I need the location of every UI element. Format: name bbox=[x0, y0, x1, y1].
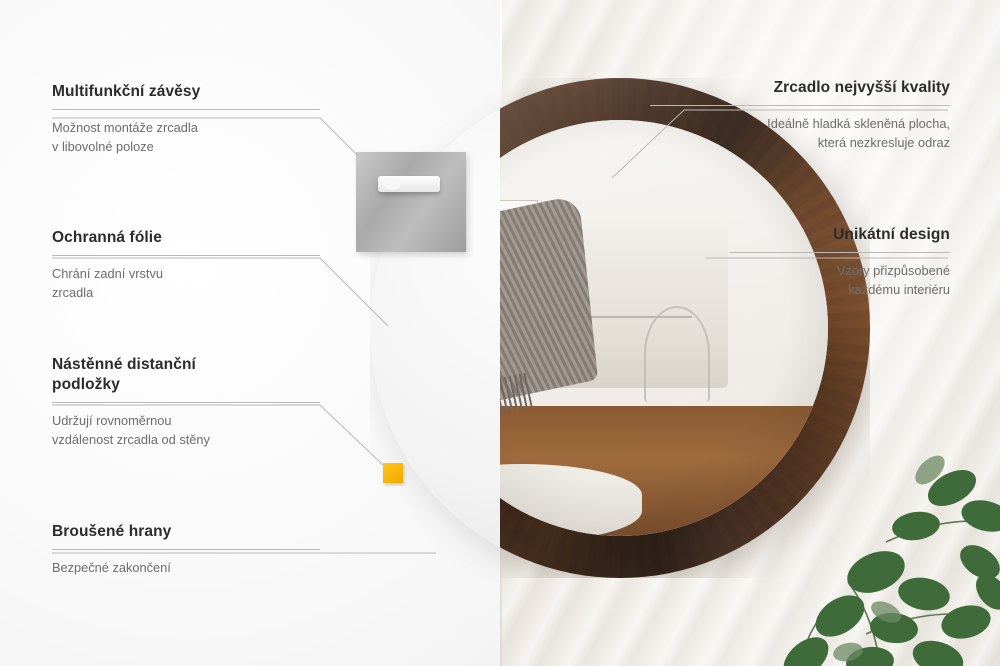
callout-title: Multifunkční závěsy bbox=[52, 82, 320, 102]
hanger-plate bbox=[356, 152, 466, 252]
desc-line-1: Vzory přizpůsobené bbox=[837, 263, 950, 278]
callout-rule bbox=[730, 252, 950, 253]
callout-ochranna-folie: Ochranná fólie Chrání zadní vrstvu zrcad… bbox=[52, 228, 320, 302]
title-line-1: Nástěnné distanční bbox=[52, 356, 196, 373]
callout-description: Vzory přizpůsobené každému interiéru bbox=[730, 262, 950, 299]
callout-description: Ideálně hladká skleněná plocha, která ne… bbox=[650, 115, 950, 152]
desc-line-2: zrcadla bbox=[52, 285, 93, 300]
title-line-2: podložky bbox=[52, 376, 120, 393]
desc-line-2: vzdálenost zrcadla od stěny bbox=[52, 432, 210, 447]
callout-title: Unikátní design bbox=[730, 225, 950, 245]
desc-line-2: každému interiéru bbox=[848, 282, 950, 297]
desc-line-2: která nezkresluje odraz bbox=[818, 135, 950, 150]
callout-multifunkcni-zavesy: Multifunkční závěsy Možnost montáže zrca… bbox=[52, 82, 320, 156]
callout-title: Broušené hrany bbox=[52, 522, 320, 542]
hanger-keyhole-slot bbox=[378, 176, 440, 192]
callout-rule bbox=[52, 402, 320, 403]
callout-rule bbox=[52, 255, 320, 256]
callout-description: Udržují rovnoměrnou vzdálenost zrcadla o… bbox=[52, 412, 320, 449]
callout-description: Chrání zadní vrstvu zrcadla bbox=[52, 265, 320, 302]
callout-title: Ochranná fólie bbox=[52, 228, 320, 248]
foliage-decoration bbox=[680, 366, 1000, 666]
callout-description: Bezpečné zakončení bbox=[52, 559, 320, 578]
spacer-pad bbox=[383, 463, 403, 483]
callout-title: Zrcadlo nejvyšší kvality bbox=[650, 78, 950, 98]
callout-rule bbox=[650, 105, 950, 106]
desc-line-1: Ideálně hladká skleněná plocha, bbox=[767, 116, 950, 131]
callout-unikatni-design: Unikátní design Vzory přizpůsobené každé… bbox=[730, 225, 950, 299]
callout-zrcadlo-nejvyssi-kvality: Zrcadlo nejvyšší kvality Ideálně hladká … bbox=[650, 78, 950, 152]
callout-description: Možnost montáže zrcadla v libovolné polo… bbox=[52, 119, 320, 156]
desc-line-1: Možnost montáže zrcadla bbox=[52, 120, 198, 135]
callout-nastenne-distancni-podlozky: Nástěnné distanční podložky Udržují rovn… bbox=[52, 355, 320, 449]
callout-rule bbox=[52, 549, 320, 550]
desc-line-2: v libovolné poloze bbox=[52, 139, 154, 154]
callout-brousene-hrany: Broušené hrany Bezpečné zakončení bbox=[52, 522, 320, 578]
callout-rule bbox=[52, 109, 320, 110]
desc-line-1: Udržují rovnoměrnou bbox=[52, 413, 172, 428]
product-infographic: Multifunkční závěsy Možnost montáže zrca… bbox=[0, 0, 1000, 666]
callout-title: Nástěnné distanční podložky bbox=[52, 355, 320, 395]
desc-line-1: Chrání zadní vrstvu bbox=[52, 266, 163, 281]
